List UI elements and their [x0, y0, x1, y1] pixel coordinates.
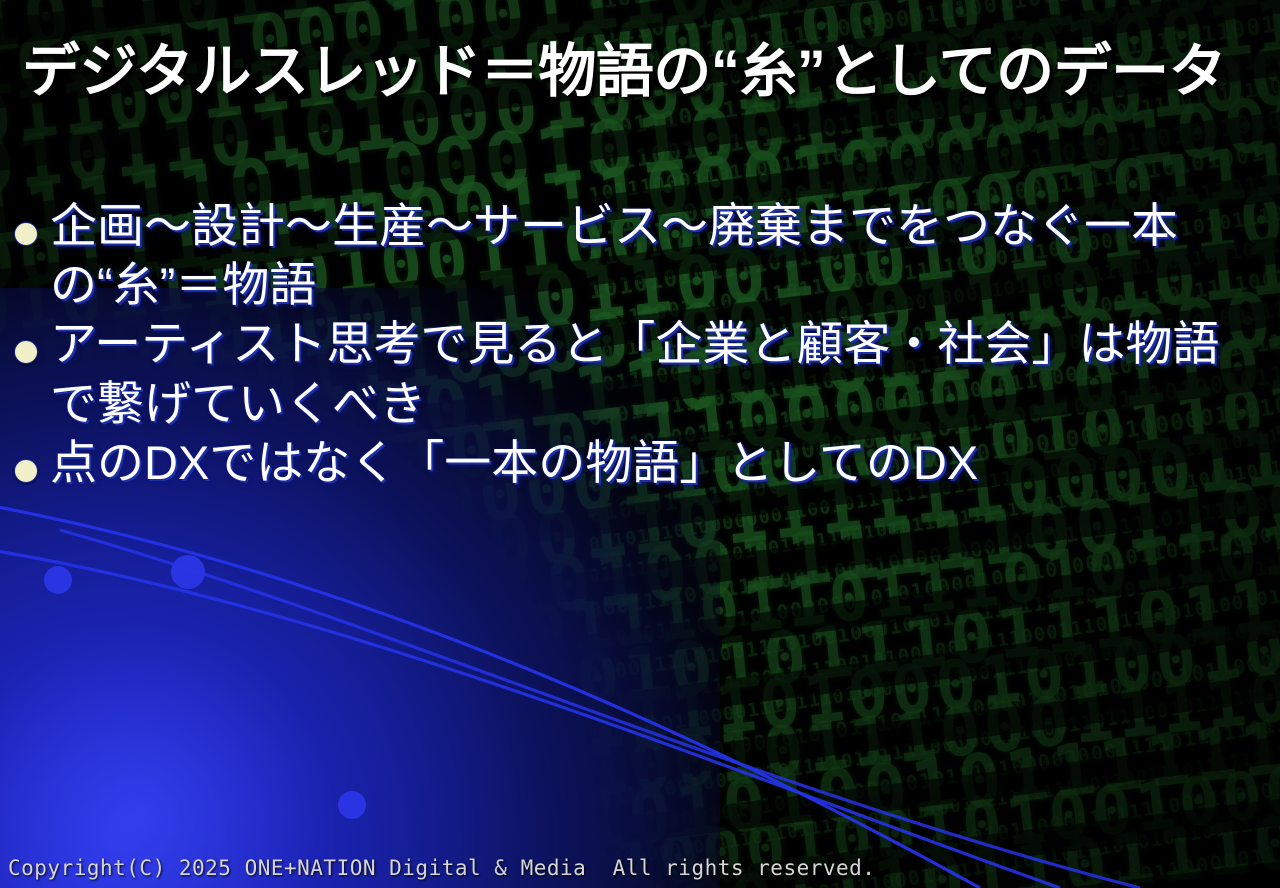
list-item: 点のDXではなく「一本の物語」としてのDX — [0, 433, 1280, 492]
copyright-footer: Copyright(C) 2025 ONE+NATION Digital & M… — [8, 856, 875, 880]
bullet-list: 企画～設計～生産～サービス～廃棄までをつなぐ一本の“糸”＝物語 アーティスト思考… — [0, 196, 1280, 492]
slide-title: デジタルスレッド＝物語の“糸”としてのデータ — [22, 24, 1266, 108]
slide-canvas: 1011100111110001010101010011000110101101… — [0, 0, 1280, 888]
bullet-marker-icon — [14, 340, 38, 364]
bullet-marker-icon — [14, 222, 38, 246]
bullet-text: アーティスト思考で見ると「企業と顧客・社会」は物語で繋げていくべき — [50, 314, 1230, 432]
bullet-text: 点のDXではなく「一本の物語」としてのDX — [50, 433, 1230, 492]
list-item: アーティスト思考で見ると「企業と顧客・社会」は物語で繋げていくべき — [0, 314, 1280, 432]
list-item: 企画～設計～生産～サービス～廃棄までをつなぐ一本の“糸”＝物語 — [0, 196, 1280, 314]
bullet-marker-icon — [14, 459, 38, 483]
bullet-text: 企画～設計～生産～サービス～廃棄までをつなぐ一本の“糸”＝物語 — [50, 196, 1190, 314]
